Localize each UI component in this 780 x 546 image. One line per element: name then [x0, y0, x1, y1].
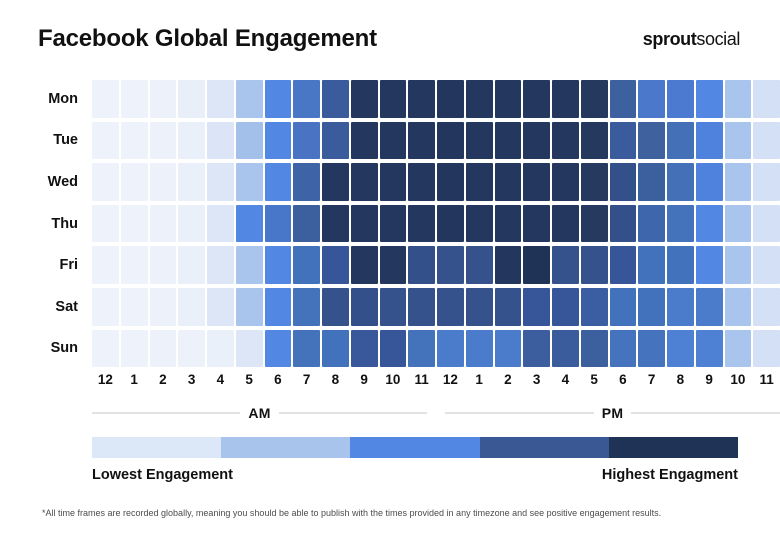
heatmap-cell[interactable]: [408, 205, 435, 243]
heatmap-cell[interactable]: [380, 330, 407, 368]
heatmap-cell[interactable]: [92, 163, 119, 201]
heatmap-cell[interactable]: [581, 80, 608, 118]
am-group: AM: [92, 405, 427, 421]
heatmap-cell[interactable]: [725, 205, 752, 243]
heatmap-cell[interactable]: [638, 246, 665, 284]
heatmap-cell[interactable]: [638, 330, 665, 368]
heatmap-cell[interactable]: [581, 205, 608, 243]
legend-swatch: [350, 437, 479, 458]
heatmap-cell[interactable]: [265, 122, 292, 160]
heatmap-cell[interactable]: [552, 122, 579, 160]
heatmap-cell[interactable]: [437, 163, 464, 201]
heatmap-cell[interactable]: [121, 288, 148, 326]
heatmap-cell[interactable]: [322, 330, 349, 368]
heatmap-cell[interactable]: [696, 330, 723, 368]
heatmap-cell[interactable]: [92, 80, 119, 118]
heatmap-cell[interactable]: [725, 246, 752, 284]
hour-tick: 2: [495, 372, 522, 387]
am-rule-right: [279, 412, 427, 414]
heatmap-cell[interactable]: [696, 163, 723, 201]
heatmap-cell[interactable]: [523, 163, 550, 201]
heatmap-cell[interactable]: [581, 288, 608, 326]
hour-tick: 10: [725, 372, 752, 387]
legend-swatch: [92, 437, 221, 458]
heatmap-cell[interactable]: [610, 246, 637, 284]
heatmap-cell[interactable]: [92, 246, 119, 284]
heatmap-cell[interactable]: [753, 80, 780, 118]
day-label-sun: Sun: [0, 328, 92, 370]
heatmap-cell[interactable]: [437, 288, 464, 326]
heatmap-cell[interactable]: [552, 163, 579, 201]
heatmap-cell[interactable]: [725, 163, 752, 201]
hour-tick: 10: [380, 372, 407, 387]
heatmap-cell[interactable]: [380, 246, 407, 284]
heatmap-cell[interactable]: [351, 246, 378, 284]
heatmap-cell[interactable]: [696, 122, 723, 160]
hour-tick: 4: [552, 372, 579, 387]
heatmap-cell[interactable]: [408, 80, 435, 118]
hour-tick: 9: [351, 372, 378, 387]
heatmap-cell[interactable]: [466, 80, 493, 118]
heatmap-cell[interactable]: [351, 80, 378, 118]
am-rule-left: [92, 412, 240, 414]
heatmap-cell[interactable]: [178, 205, 205, 243]
heatmap-cell[interactable]: [351, 288, 378, 326]
heatmap-cell[interactable]: [610, 205, 637, 243]
heatmap-cell[interactable]: [351, 163, 378, 201]
legend-color-bar: [92, 437, 738, 458]
heatmap-cell[interactable]: [178, 330, 205, 368]
ampm-axis-spacer: [0, 405, 92, 421]
heatmap-cell[interactable]: [466, 246, 493, 284]
heatmap-cell[interactable]: [437, 246, 464, 284]
heatmap-cell[interactable]: [207, 163, 234, 201]
heatmap-cell[interactable]: [265, 80, 292, 118]
ampm-divider: [429, 405, 443, 421]
heatmap-cell[interactable]: [408, 122, 435, 160]
heatmap-row-cells: [92, 328, 780, 370]
heatmap-cell[interactable]: [408, 163, 435, 201]
legend-highest-label: Highest Engagment: [602, 467, 738, 483]
heatmap-cell[interactable]: [92, 330, 119, 368]
heatmap-cell[interactable]: [610, 163, 637, 201]
heatmap-cell[interactable]: [265, 205, 292, 243]
heatmap-cell[interactable]: [610, 288, 637, 326]
day-label-mon: Mon: [0, 78, 92, 120]
heatmap-row: Tue: [0, 120, 780, 162]
hour-tick: 3: [178, 372, 205, 387]
footnote: *All time frames are recorded globally, …: [42, 508, 742, 520]
heatmap-cell[interactable]: [150, 163, 177, 201]
heatmap-row: Mon: [0, 78, 780, 120]
hour-tick: 5: [581, 372, 608, 387]
heatmap-cell[interactable]: [667, 330, 694, 368]
heatmap-cell[interactable]: [437, 80, 464, 118]
hour-tick: 12: [92, 372, 119, 387]
heatmap-cell[interactable]: [293, 288, 320, 326]
heatmap-cell[interactable]: [178, 122, 205, 160]
heatmap-cell[interactable]: [725, 80, 752, 118]
heatmap-cell[interactable]: [322, 163, 349, 201]
heatmap-cell[interactable]: [437, 330, 464, 368]
heatmap-cell[interactable]: [725, 330, 752, 368]
heatmap-cell[interactable]: [178, 163, 205, 201]
heatmap-cell[interactable]: [523, 80, 550, 118]
brand-name-bold: sprout: [643, 29, 697, 49]
legend-swatch: [609, 437, 738, 458]
heatmap-cell[interactable]: [753, 205, 780, 243]
legend-spacer: [0, 437, 92, 483]
heatmap-cell[interactable]: [495, 246, 522, 284]
heatmap-cell[interactable]: [696, 246, 723, 284]
heatmap-cell[interactable]: [207, 205, 234, 243]
heatmap-cell[interactable]: [466, 288, 493, 326]
heatmap-cell[interactable]: [408, 330, 435, 368]
heatmap-cell[interactable]: [638, 122, 665, 160]
hour-axis-spacer: [0, 372, 92, 387]
heatmap-cell[interactable]: [265, 163, 292, 201]
ampm-axis: AM PM: [0, 405, 780, 421]
heatmap-cell[interactable]: [667, 163, 694, 201]
heatmap-cell[interactable]: [121, 122, 148, 160]
heatmap-cell[interactable]: [696, 205, 723, 243]
heatmap-row: Thu: [0, 203, 780, 245]
day-label-wed: Wed: [0, 161, 92, 203]
heatmap-cell[interactable]: [293, 246, 320, 284]
header: Facebook Global Engagement sproutsocial: [0, 0, 780, 78]
heatmap-cell[interactable]: [610, 80, 637, 118]
heatmap-row-cells: [92, 286, 780, 328]
legend-lowest-label: Lowest Engagement: [92, 467, 233, 483]
hour-tick: 6: [610, 372, 637, 387]
hour-tick: 7: [293, 372, 320, 387]
heatmap-cell[interactable]: [408, 246, 435, 284]
heatmap-cell[interactable]: [753, 288, 780, 326]
heatmap-cell[interactable]: [523, 330, 550, 368]
heatmap-row: Fri: [0, 244, 780, 286]
heatmap-row: Wed: [0, 161, 780, 203]
heatmap-cell[interactable]: [92, 205, 119, 243]
heatmap-cell[interactable]: [293, 163, 320, 201]
heatmap-cell[interactable]: [466, 330, 493, 368]
heatmap-row-cells: [92, 203, 780, 245]
heatmap-cell[interactable]: [322, 246, 349, 284]
hour-tick: 1: [466, 372, 493, 387]
heatmap-cell[interactable]: [610, 122, 637, 160]
heatmap-cell[interactable]: [322, 288, 349, 326]
hour-tick: 8: [667, 372, 694, 387]
heatmap-cell[interactable]: [380, 80, 407, 118]
heatmap-cell[interactable]: [92, 288, 119, 326]
heatmap-cell[interactable]: [495, 80, 522, 118]
heatmap-cell[interactable]: [581, 246, 608, 284]
hour-tick: 8: [322, 372, 349, 387]
heatmap-cell[interactable]: [351, 330, 378, 368]
legend: Lowest Engagement Highest Engagment: [0, 437, 780, 483]
heatmap-row-cells: [92, 161, 780, 203]
heatmap-cell[interactable]: [207, 80, 234, 118]
heatmap-cell[interactable]: [121, 80, 148, 118]
heatmap-cell[interactable]: [150, 205, 177, 243]
heatmap-cell[interactable]: [495, 288, 522, 326]
heatmap-cell[interactable]: [753, 330, 780, 368]
heatmap-cell[interactable]: [178, 80, 205, 118]
heatmap-cell[interactable]: [495, 122, 522, 160]
heatmap-cell[interactable]: [121, 205, 148, 243]
heatmap-cell[interactable]: [552, 330, 579, 368]
hour-tick: 11: [753, 372, 780, 387]
heatmap-cell[interactable]: [437, 205, 464, 243]
heatmap-cell[interactable]: [495, 205, 522, 243]
heatmap-cell[interactable]: [293, 80, 320, 118]
heatmap-cell[interactable]: [667, 122, 694, 160]
heatmap-cell[interactable]: [667, 205, 694, 243]
day-label-thu: Thu: [0, 203, 92, 245]
heatmap-cell[interactable]: [207, 246, 234, 284]
hour-tick: 1: [121, 372, 148, 387]
heatmap-cell[interactable]: [236, 163, 263, 201]
heatmap-cell[interactable]: [293, 122, 320, 160]
heatmap-cell[interactable]: [667, 246, 694, 284]
hour-tick: 11: [408, 372, 435, 387]
heatmap-cell[interactable]: [265, 288, 292, 326]
heatmap-cell[interactable]: [380, 122, 407, 160]
heatmap-row-cells: [92, 244, 780, 286]
heatmap-cell[interactable]: [552, 80, 579, 118]
heatmap-cell[interactable]: [265, 330, 292, 368]
legend-swatch: [480, 437, 609, 458]
legend-labels: Lowest Engagement Highest Engagment: [92, 467, 738, 483]
heatmap-cell[interactable]: [437, 122, 464, 160]
heatmap-cell[interactable]: [523, 288, 550, 326]
ampm-axis-inner: AM PM: [92, 405, 780, 421]
brand-name-light: social: [696, 29, 740, 49]
heatmap-cell[interactable]: [265, 246, 292, 284]
heatmap-row-cells: [92, 78, 780, 120]
hour-tick: 12: [437, 372, 464, 387]
hour-tick: 4: [207, 372, 234, 387]
heatmap-cell[interactable]: [150, 288, 177, 326]
page-title: Facebook Global Engagement: [38, 27, 377, 51]
heatmap-cell[interactable]: [380, 163, 407, 201]
pm-rule-left: [445, 412, 594, 414]
heatmap-cell[interactable]: [523, 246, 550, 284]
heatmap-row: Sat: [0, 286, 780, 328]
heatmap-cell[interactable]: [293, 330, 320, 368]
legend-swatch: [221, 437, 350, 458]
heatmap-cell[interactable]: [495, 330, 522, 368]
heatmap-cell[interactable]: [236, 80, 263, 118]
hour-tick: 6: [265, 372, 292, 387]
day-label-sat: Sat: [0, 286, 92, 328]
heatmap-cell[interactable]: [466, 205, 493, 243]
legend-inner: Lowest Engagement Highest Engagment: [92, 437, 780, 483]
heatmap-cell[interactable]: [638, 163, 665, 201]
hour-axis: 121234567891011121234567891011: [0, 372, 780, 387]
heatmap-cell[interactable]: [207, 122, 234, 160]
heatmap-cell[interactable]: [552, 205, 579, 243]
heatmap-cell[interactable]: [753, 122, 780, 160]
heatmap-cell[interactable]: [581, 163, 608, 201]
heatmap-cell[interactable]: [495, 163, 522, 201]
heatmap-row-cells: [92, 120, 780, 162]
hour-tick: 5: [236, 372, 263, 387]
heatmap-cell[interactable]: [638, 205, 665, 243]
heatmap-cell[interactable]: [638, 80, 665, 118]
heatmap-cell[interactable]: [725, 122, 752, 160]
sproutsocial-logo: sproutsocial: [643, 30, 740, 48]
heatmap-cell[interactable]: [696, 80, 723, 118]
hour-tick-labels: 121234567891011121234567891011: [92, 372, 780, 387]
heatmap-cell[interactable]: [552, 246, 579, 284]
heatmap-cell[interactable]: [121, 163, 148, 201]
heatmap-cell[interactable]: [523, 122, 550, 160]
heatmap-cell[interactable]: [380, 288, 407, 326]
heatmap-cell[interactable]: [351, 122, 378, 160]
heatmap-cell[interactable]: [466, 163, 493, 201]
heatmap-cell[interactable]: [150, 80, 177, 118]
heatmap-cell[interactable]: [121, 330, 148, 368]
hour-tick: 3: [523, 372, 550, 387]
heatmap-cell[interactable]: [552, 288, 579, 326]
heatmap-cell[interactable]: [466, 122, 493, 160]
heatmap-cell[interactable]: [236, 288, 263, 326]
heatmap-cell[interactable]: [725, 288, 752, 326]
heatmap-cell[interactable]: [322, 205, 349, 243]
heatmap-cell[interactable]: [581, 122, 608, 160]
heatmap-cell[interactable]: [121, 246, 148, 284]
engagement-heatmap: MonTueWedThuFriSatSun: [0, 78, 780, 369]
heatmap-cell[interactable]: [236, 330, 263, 368]
heatmap-cell[interactable]: [581, 330, 608, 368]
heatmap-cell[interactable]: [92, 122, 119, 160]
day-label-fri: Fri: [0, 244, 92, 286]
hour-tick: 7: [638, 372, 665, 387]
heatmap-cell[interactable]: [523, 205, 550, 243]
heatmap-cell[interactable]: [322, 122, 349, 160]
hour-tick: 9: [696, 372, 723, 387]
heatmap-cell[interactable]: [207, 330, 234, 368]
heatmap-row: Sun: [0, 328, 780, 370]
heatmap-cell[interactable]: [207, 288, 234, 326]
heatmap-cell[interactable]: [178, 288, 205, 326]
day-label-tue: Tue: [0, 120, 92, 162]
heatmap-cell[interactable]: [236, 246, 263, 284]
heatmap-cell[interactable]: [638, 288, 665, 326]
heatmap-cell[interactable]: [408, 288, 435, 326]
heatmap-cell[interactable]: [293, 205, 320, 243]
heatmap-cell[interactable]: [610, 330, 637, 368]
heatmap-cell[interactable]: [696, 288, 723, 326]
heatmap-cell[interactable]: [380, 205, 407, 243]
am-label: AM: [248, 405, 270, 421]
heatmap-cell[interactable]: [753, 163, 780, 201]
heatmap-cell[interactable]: [150, 246, 177, 284]
hour-tick: 2: [150, 372, 177, 387]
heatmap-cell[interactable]: [150, 330, 177, 368]
pm-rule-right: [631, 412, 780, 414]
heatmap-cell[interactable]: [753, 246, 780, 284]
heatmap-cell[interactable]: [178, 246, 205, 284]
heatmap-cell[interactable]: [351, 205, 378, 243]
heatmap-cell[interactable]: [236, 122, 263, 160]
heatmap-cell[interactable]: [150, 122, 177, 160]
pm-label: PM: [602, 405, 623, 421]
heatmap-cell[interactable]: [236, 205, 263, 243]
heatmap-cell[interactable]: [667, 288, 694, 326]
pm-group: PM: [445, 405, 780, 421]
heatmap-cell[interactable]: [322, 80, 349, 118]
heatmap-cell[interactable]: [667, 80, 694, 118]
